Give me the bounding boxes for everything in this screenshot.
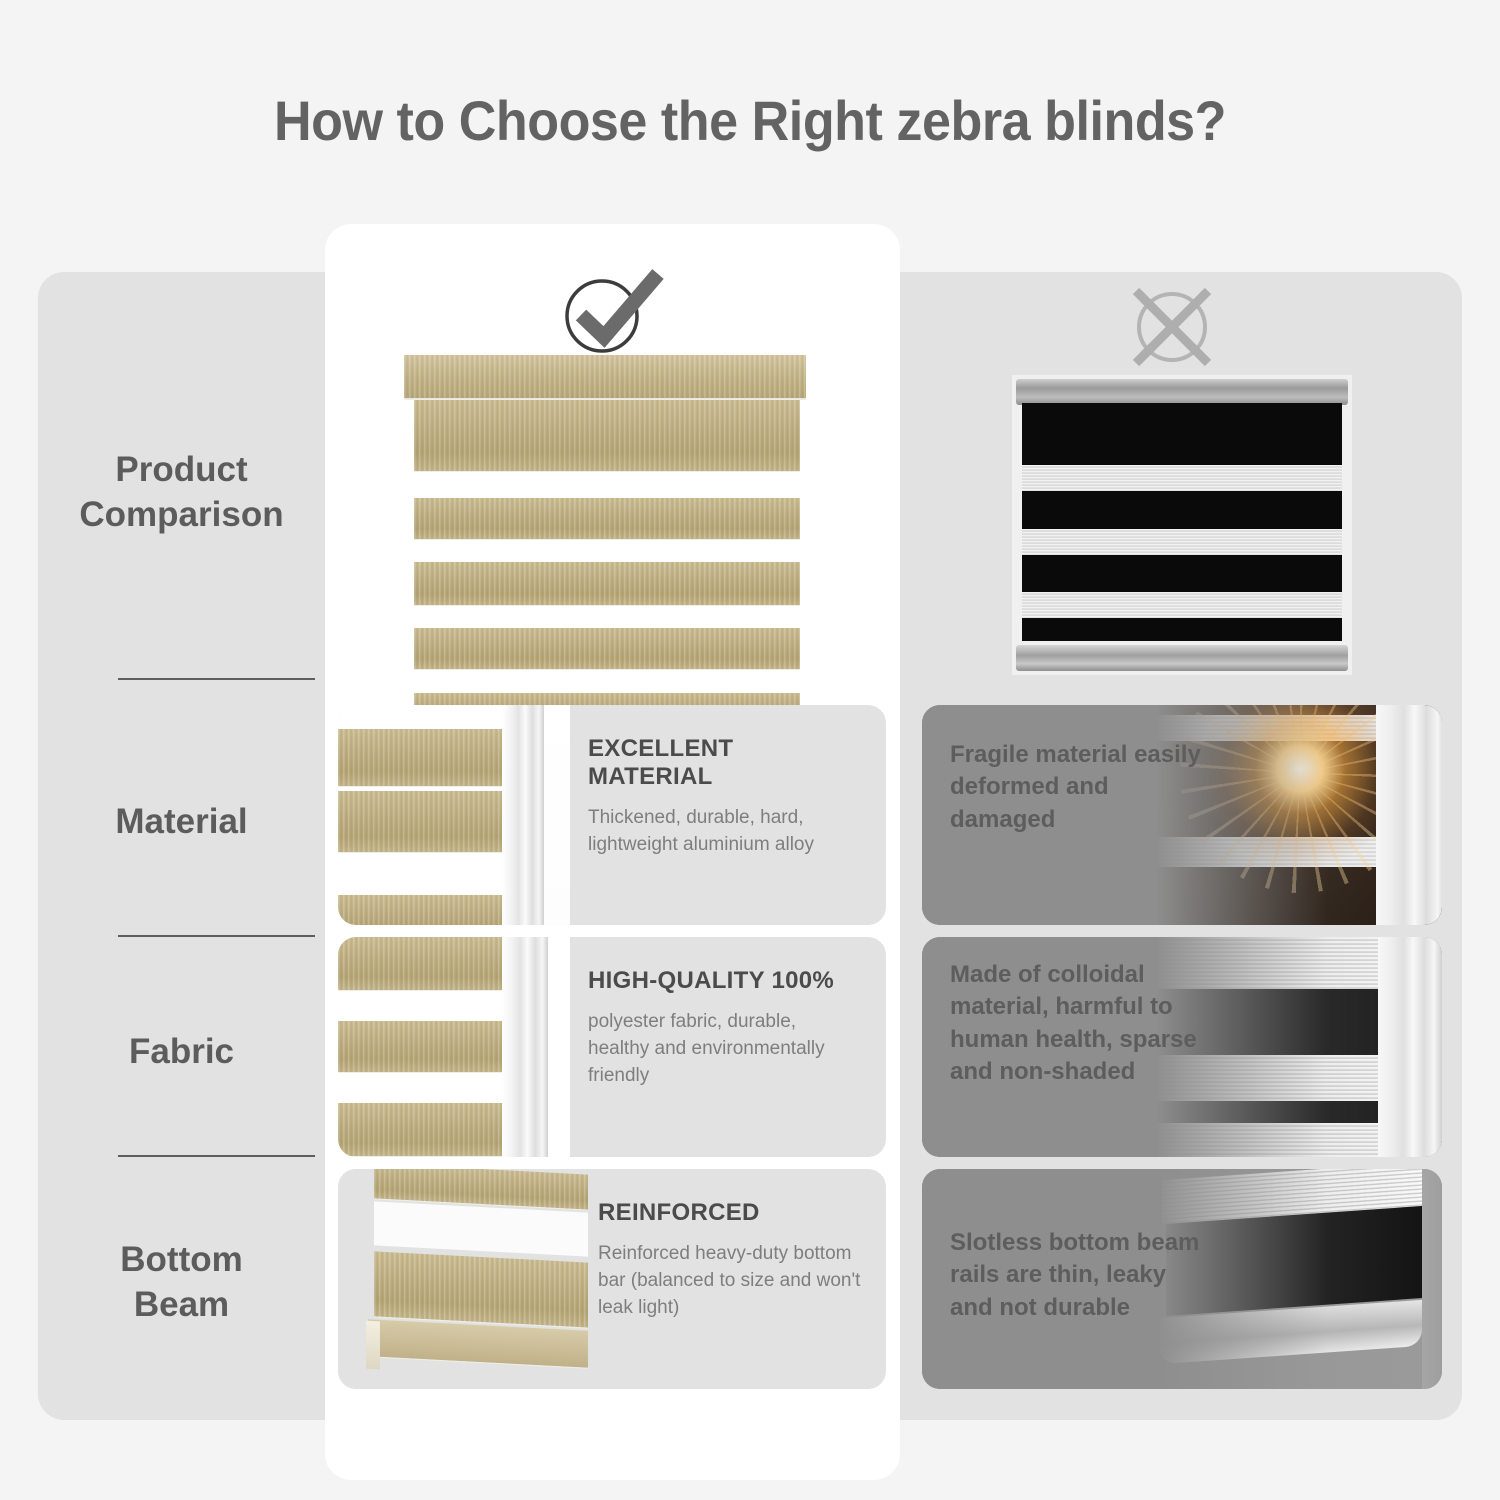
good-material-text: EXCELLENT MATERIAL Thickened, durable, h… <box>570 705 886 925</box>
good-fabric-heading: HIGH-QUALITY 100% <box>588 967 862 995</box>
check-circle-icon <box>555 268 665 356</box>
good-bottom-beam-text: REINFORCED Reinforced heavy-duty bottom … <box>588 1169 886 1389</box>
good-fabric-text: HIGH-QUALITY 100% polyester fabric, dura… <box>570 937 886 1157</box>
good-feature-row-fabric: HIGH-QUALITY 100% polyester fabric, dura… <box>338 937 886 1157</box>
good-hero-headrail <box>404 355 806 399</box>
good-material-body: Thickened, durable, hard, lightweight al… <box>588 805 862 859</box>
bad-hero-frame <box>1012 375 1352 675</box>
bad-feature-row-bottom-beam: Slotless bottom beam rails are thin, lea… <box>922 1169 1442 1389</box>
row-divider-1 <box>118 678 315 680</box>
bad-hero-headrail <box>1016 379 1348 405</box>
bad-hero-sheer-band <box>1022 465 1342 491</box>
row-label-product-comparison: Product Comparison <box>38 427 325 557</box>
bad-feature-row-fabric: Made of colloidal material, harmful to h… <box>922 937 1442 1157</box>
row-divider-3 <box>118 1155 315 1157</box>
bad-hero-body <box>1022 403 1342 641</box>
good-hero-slat <box>414 562 800 606</box>
bad-hero-bottom-rail <box>1016 645 1348 671</box>
good-hero-image <box>400 355 810 695</box>
good-feature-row-material: EXCELLENT MATERIAL Thickened, durable, h… <box>338 705 886 925</box>
row-label-bottom-beam: Bottom Beam <box>38 1227 325 1337</box>
comparison-infographic: How to Choose the Right zebra blinds? Pr… <box>0 0 1500 1500</box>
good-bottom-beam-photo <box>338 1169 588 1389</box>
row-label-fabric: Fabric <box>38 1022 325 1082</box>
bad-feature-row-material: Fragile material easily deformed and dam… <box>922 705 1442 925</box>
bad-material-body: Fragile material easily deformed and dam… <box>950 739 1220 836</box>
good-material-photo <box>338 705 570 925</box>
bad-fabric-body: Made of colloidal material, harmful to h… <box>950 959 1212 1089</box>
row-divider-2 <box>118 935 315 937</box>
row-label-column: Product Comparison Material Fabric Botto… <box>38 272 325 1420</box>
good-hero-slat <box>414 400 800 472</box>
page-title: How to Choose the Right zebra blinds? <box>53 88 1448 153</box>
bad-hero-image <box>1012 375 1352 675</box>
good-hero-slat <box>414 498 800 540</box>
bad-bottom-beam-body: Slotless bottom beam rails are thin, lea… <box>950 1227 1202 1324</box>
bad-hero-sheer-band <box>1022 529 1342 555</box>
good-bottom-beam-body: Reinforced heavy-duty bottom bar (balanc… <box>598 1241 862 1322</box>
good-fabric-photo <box>338 937 570 1157</box>
good-bottom-beam-heading: REINFORCED <box>598 1199 862 1227</box>
good-material-heading: EXCELLENT MATERIAL <box>588 735 862 791</box>
good-hero-slat <box>414 628 800 670</box>
x-circle-icon <box>1122 282 1222 372</box>
row-label-material: Material <box>38 792 325 852</box>
bad-hero-sheer-band <box>1022 592 1342 618</box>
good-fabric-body: polyester fabric, durable, healthy and e… <box>588 1009 862 1090</box>
good-feature-row-bottom-beam: REINFORCED Reinforced heavy-duty bottom … <box>338 1169 886 1389</box>
